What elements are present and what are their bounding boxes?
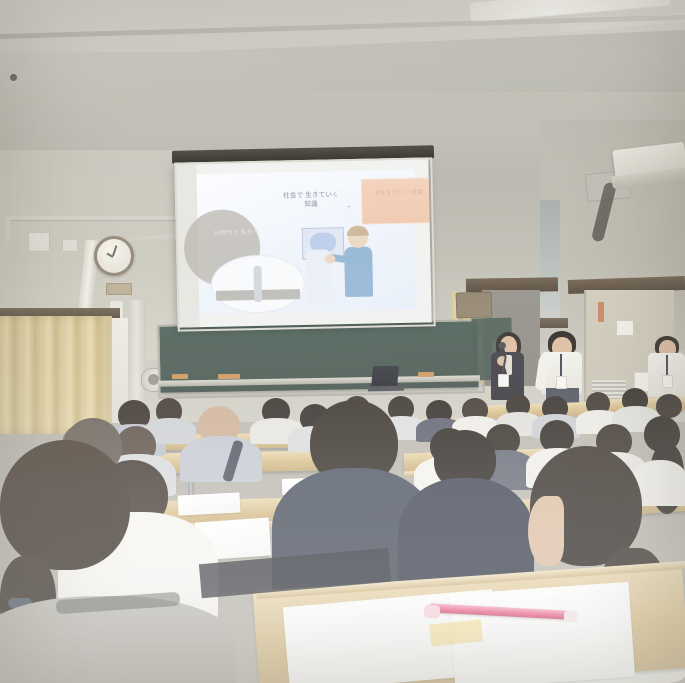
person-hair bbox=[347, 226, 369, 236]
human-figure-icon bbox=[253, 266, 262, 302]
pen-cap bbox=[564, 611, 578, 623]
slide-peach-text: 社会 生きて いく知識 bbox=[362, 189, 432, 198]
chalk-icon bbox=[172, 374, 188, 379]
window-ledge bbox=[536, 318, 568, 328]
projector-screen: AI時代と 私たち 社会で 生きていく 知識 + 社会 生きて いく知識 bbox=[174, 157, 431, 327]
foreground-neck bbox=[528, 496, 564, 566]
pen-eraser bbox=[424, 605, 441, 619]
ceiling-fixture bbox=[10, 74, 17, 81]
chalk-icon bbox=[218, 374, 240, 379]
blackboard-frame bbox=[157, 319, 484, 399]
foreground-head bbox=[0, 440, 130, 570]
slide-heading: 社会で 生きていく 知識 bbox=[283, 191, 339, 209]
wall-plate bbox=[106, 283, 132, 295]
name-badge bbox=[498, 374, 509, 387]
slide-oval-illustration bbox=[210, 254, 305, 314]
curtain-left bbox=[0, 316, 112, 434]
microphone-head bbox=[498, 342, 506, 349]
wall-clock-icon bbox=[94, 236, 134, 276]
lanyard bbox=[666, 355, 668, 377]
projected-slide: AI時代と 私たち 社会で 生きていく 知識 + 社会 生きて いく知識 bbox=[197, 170, 418, 315]
paper-sheet bbox=[178, 492, 241, 515]
wall-speaker-icon bbox=[456, 291, 493, 318]
laptop-base bbox=[368, 386, 404, 392]
chalk-icon bbox=[418, 372, 434, 377]
classroom-photo: AI時代と 私たち 社会で 生きていく 知識 + 社会 生きて いく知識 bbox=[0, 0, 685, 683]
name-badge bbox=[662, 375, 673, 388]
person-figure-icon bbox=[344, 247, 373, 298]
window-right bbox=[540, 200, 560, 320]
name-badge bbox=[556, 376, 567, 389]
exit-strip bbox=[598, 302, 604, 322]
lanyard bbox=[560, 354, 562, 378]
handshake-icon bbox=[324, 254, 335, 263]
slide-plus-symbol: + bbox=[347, 205, 351, 211]
junction-box bbox=[62, 239, 78, 252]
slide-peach-box: 社会 生きて いく知識 bbox=[361, 177, 432, 225]
junction-box bbox=[28, 232, 50, 252]
slide-circle-label: AI時代と 私たち bbox=[208, 229, 266, 238]
door-sign bbox=[616, 320, 634, 336]
electrical-conduit bbox=[6, 216, 10, 242]
audience-head bbox=[656, 394, 682, 418]
